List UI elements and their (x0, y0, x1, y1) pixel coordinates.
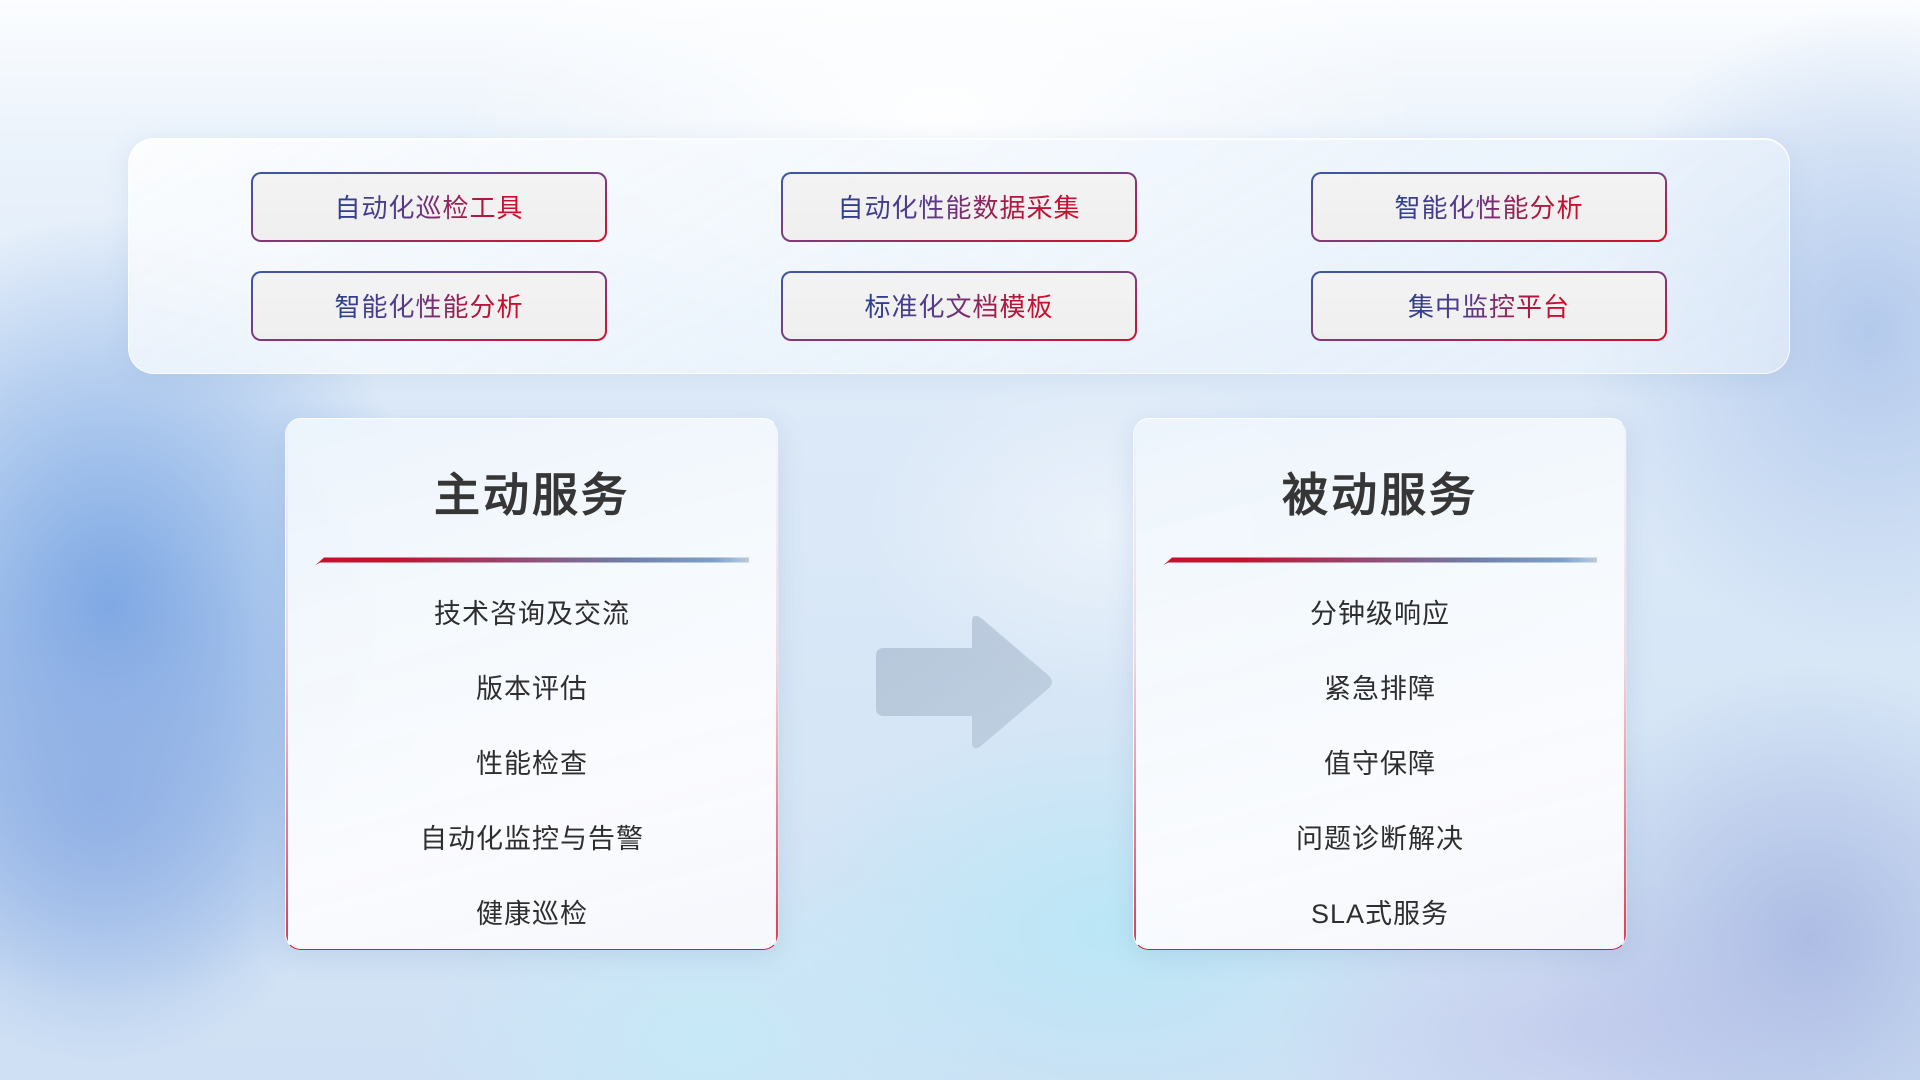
list-item: 问题诊断解决 (1134, 826, 1626, 853)
tool-tag-1[interactable]: 自动化巡检工具 (251, 172, 607, 242)
list-item: 紧急排障 (1134, 676, 1626, 703)
tool-tag-3[interactable]: 智能化性能分析 (1311, 172, 1667, 242)
list-item: 版本评估 (286, 676, 778, 703)
tool-tag-6[interactable]: 集中监控平台 (1311, 271, 1667, 341)
service-card-reactive[interactable]: 被动服务 分钟级响应 紧急排障 值守保障 (1133, 418, 1627, 950)
service-card-proactive-list: 技术咨询及交流 版本评估 性能检查 自动化监控与告警 健康巡检 (286, 601, 778, 928)
service-card-reactive-divider (1163, 553, 1597, 567)
service-card-reactive-title: 被动服务 (1134, 459, 1626, 525)
list-item: 值守保障 (1134, 751, 1626, 778)
tool-tag-4[interactable]: 智能化性能分析 (251, 271, 607, 341)
list-item: 健康巡检 (286, 901, 778, 928)
list-item: 技术咨询及交流 (286, 601, 778, 628)
tool-tag-2[interactable]: 自动化性能数据采集 (781, 172, 1137, 242)
tool-tag-1-label: 自动化巡检工具 (334, 188, 523, 225)
list-item: 自动化监控与告警 (286, 826, 778, 853)
service-card-proactive-title: 主动服务 (286, 459, 778, 525)
service-card-proactive[interactable]: 主动服务 技术咨询及交流 版本评估 性能检查 (285, 418, 779, 950)
tools-grid: 自动化巡检工具 自动化性能数据采集 智能化性能分析 智能化性能分析 (129, 139, 1789, 373)
list-item: 分钟级响应 (1134, 601, 1626, 628)
tool-tag-6-inner: 集中监控平台 (1313, 273, 1665, 339)
tool-tag-2-inner: 自动化性能数据采集 (783, 174, 1135, 240)
service-card-reactive-list: 分钟级响应 紧急排障 值守保障 问题诊断解决 SLA式服务 (1134, 601, 1626, 928)
tool-tag-3-inner: 智能化性能分析 (1313, 174, 1665, 240)
service-card-proactive-divider (315, 553, 749, 567)
arrow-right-icon (866, 612, 1056, 752)
tool-tag-2-label: 自动化性能数据采集 (837, 188, 1080, 225)
tool-tag-6-label: 集中监控平台 (1408, 287, 1570, 324)
tool-tag-3-label: 智能化性能分析 (1394, 188, 1583, 225)
tool-tag-4-inner: 智能化性能分析 (253, 273, 605, 339)
tool-tag-5-inner: 标准化文档模板 (783, 273, 1135, 339)
tools-panel: 自动化巡检工具 自动化性能数据采集 智能化性能分析 智能化性能分析 (128, 138, 1790, 374)
list-item: 性能检查 (286, 751, 778, 778)
list-item: SLA式服务 (1134, 901, 1626, 928)
tool-tag-1-inner: 自动化巡检工具 (253, 174, 605, 240)
tool-tag-5[interactable]: 标准化文档模板 (781, 271, 1137, 341)
tool-tag-4-label: 智能化性能分析 (334, 287, 523, 324)
tool-tag-5-label: 标准化文档模板 (864, 287, 1053, 324)
